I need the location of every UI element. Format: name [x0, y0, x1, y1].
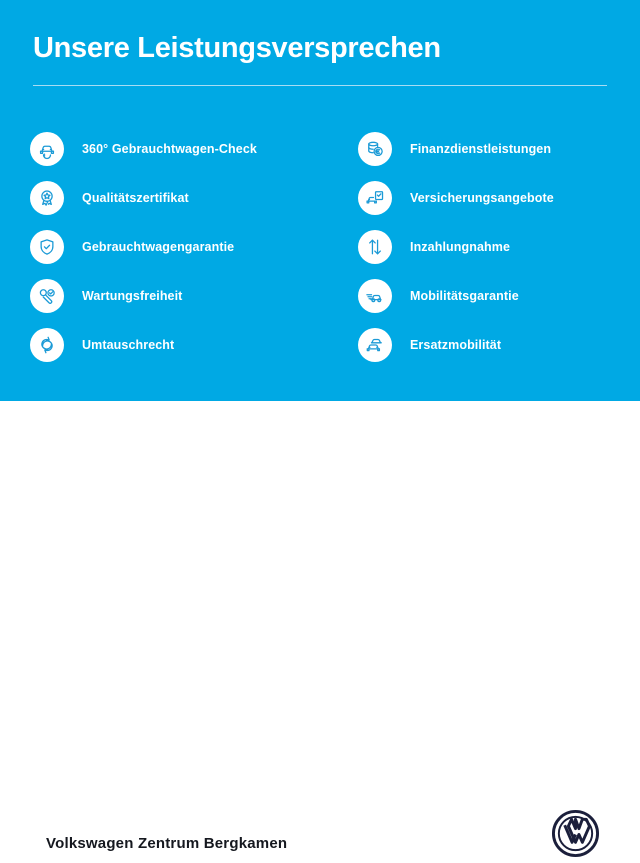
promise-list-right: Finanzdienstleistungen Versicherungsange… — [358, 124, 638, 369]
list-item-label: 360° Gebrauchtwagen-Check — [82, 142, 257, 156]
list-item-label: Finanzdienstleistungen — [410, 142, 551, 156]
list-item[interactable]: Inzahlungnahme — [358, 222, 638, 271]
list-item-label: Qualitätszertifikat — [82, 191, 189, 205]
list-item[interactable]: Finanzdienstleistungen — [358, 124, 638, 173]
moving-car-icon — [358, 279, 392, 313]
list-item[interactable]: Versicherungsangebote — [358, 173, 638, 222]
dealer-name: Volkswagen Zentrum Bergkamen — [46, 835, 287, 852]
list-item-label: Inzahlungnahme — [410, 240, 510, 254]
promise-slide: Unsere Leistungsversprechen — [0, 0, 640, 480]
medal-rosette-icon — [30, 181, 64, 215]
list-item-label: Mobilitätsgarantie — [410, 289, 519, 303]
promise-list-left: 360° Gebrauchtwagen-Check Qualitätszerti… — [30, 124, 330, 369]
list-item-label: Umtauschrecht — [82, 338, 174, 352]
list-item-label: Wartungsfreiheit — [82, 289, 182, 303]
coins-euro-icon — [358, 132, 392, 166]
wrench-check-icon — [30, 279, 64, 313]
shield-check-icon — [30, 230, 64, 264]
up-down-arrows-icon — [358, 230, 392, 264]
list-item-label: Ersatzmobilität — [410, 338, 501, 352]
list-item-label: Gebrauchtwagengarantie — [82, 240, 234, 254]
promises-panel: Unsere Leistungsversprechen — [0, 0, 640, 401]
list-item[interactable]: Qualitätszertifikat — [30, 173, 330, 222]
list-item-label: Versicherungsangebote — [410, 191, 554, 205]
car-document-icon — [358, 181, 392, 215]
list-item[interactable]: Wartungsfreiheit — [30, 271, 330, 320]
list-item[interactable]: 360° Gebrauchtwagen-Check — [30, 124, 330, 173]
page-title: Unsere Leistungsversprechen — [33, 33, 441, 65]
list-item[interactable]: Ersatzmobilität — [358, 320, 638, 369]
list-item[interactable]: Umtauschrecht — [30, 320, 330, 369]
car-check-icon — [30, 132, 64, 166]
footer-bar: Volkswagen Zentrum Bergkamen — [0, 401, 640, 480]
exchange-arrows-icon — [30, 328, 64, 362]
two-cars-icon — [358, 328, 392, 362]
volkswagen-logo — [551, 809, 600, 858]
list-item[interactable]: Mobilitätsgarantie — [358, 271, 638, 320]
list-item[interactable]: Gebrauchtwagengarantie — [30, 222, 330, 271]
title-divider — [33, 85, 607, 86]
